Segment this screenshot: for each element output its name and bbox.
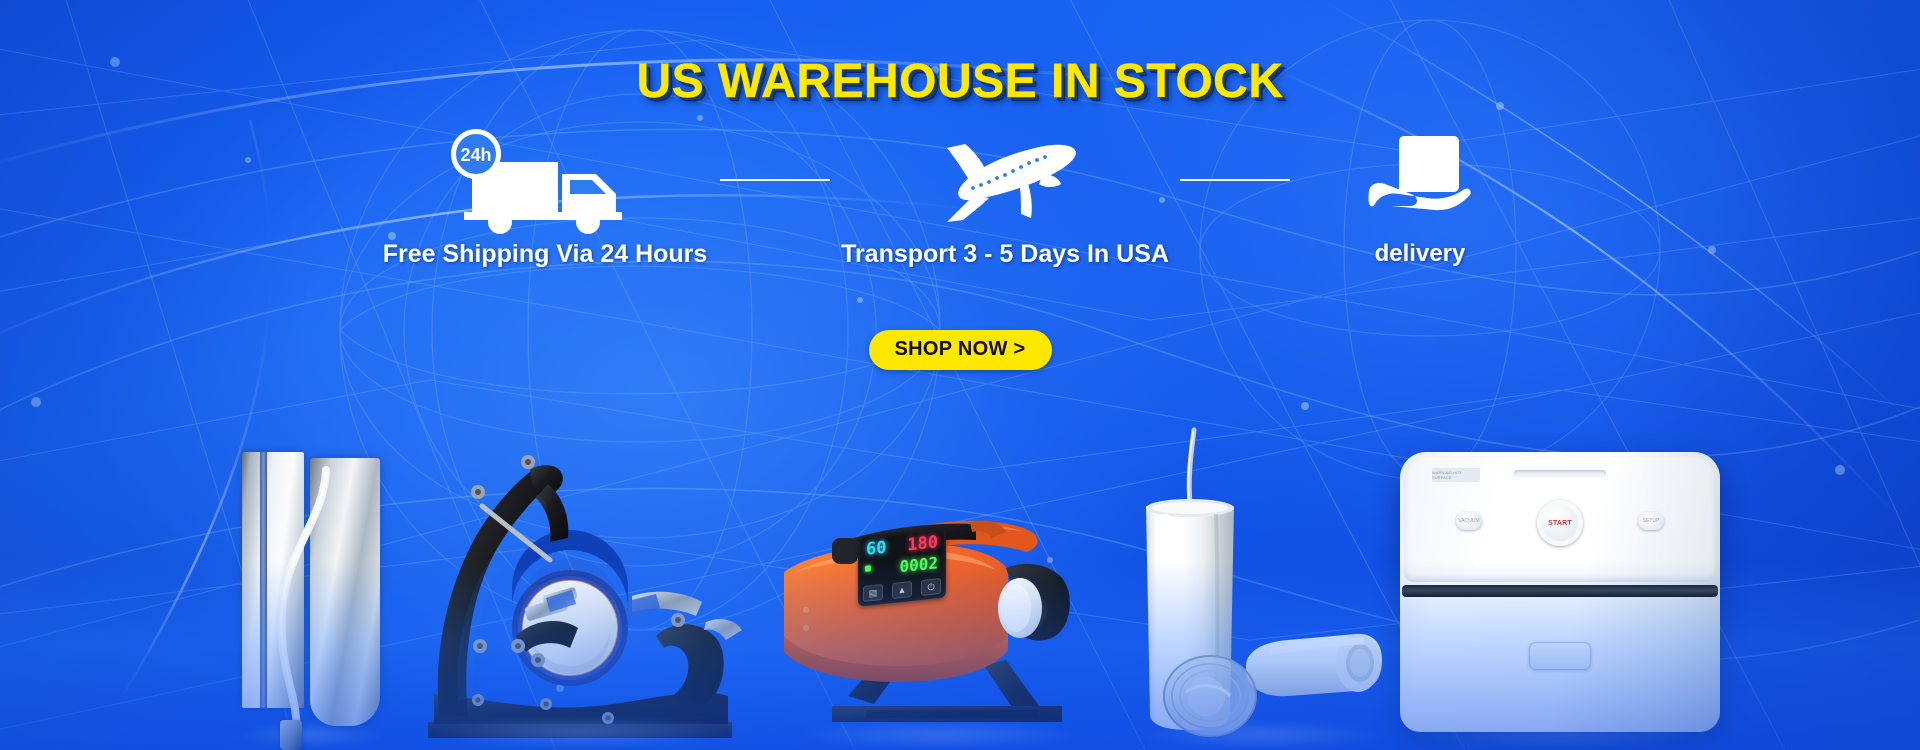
airplane-icon [917, 128, 1093, 232]
display-power-button[interactable]: ⏻ [921, 578, 941, 596]
display-menu-button[interactable]: ▤ [863, 584, 883, 602]
appliance-start-button[interactable]: START [1537, 500, 1583, 546]
connector-line-2 [1180, 128, 1290, 232]
page-title: US WAREHOUSE IN STOCK [0, 54, 1920, 109]
feature-label: Transport 3 - 5 Days In USA [841, 240, 1169, 269]
feature-transport-time: Transport 3 - 5 Days In USA [830, 128, 1180, 269]
appliance-setup-button[interactable]: SETUP [1638, 512, 1664, 530]
plate-cable [266, 480, 336, 742]
appliance-warning-label: WARNING HOT SURFACE [1432, 468, 1480, 482]
display-temperature: 60 [866, 540, 886, 559]
product-sublimation-oven[interactable]: WARNING HOT SURFACE VACUUM START SETUP [1400, 440, 1720, 750]
delivery-truck-24h-icon: 24h [440, 128, 650, 232]
appliance-seam-band [1402, 585, 1718, 597]
appliance-vent [1514, 470, 1606, 477]
display-target-temperature: 180 [907, 534, 938, 554]
product-mug-heat-press[interactable] [420, 450, 740, 750]
display-status-indicator [865, 565, 871, 572]
promo-banner: US WAREHOUSE IN STOCK [0, 0, 1920, 750]
feature-row: 24h Free Shipping Via 24 Hours [0, 128, 1920, 269]
feature-delivery: delivery [1290, 128, 1550, 268]
appliance-vacuum-button[interactable]: VACUUM [1456, 512, 1482, 530]
feature-label: Free Shipping Via 24 Hours [383, 240, 708, 269]
product-heating-element-plate[interactable] [236, 450, 386, 750]
display-up-button[interactable]: ▲ [892, 581, 912, 599]
product-orange-heat-press[interactable]: 60 180 0002 ▤ ▲ ⏻ [770, 460, 1110, 750]
appliance-latch[interactable] [1529, 642, 1591, 670]
hand-holding-package-icon [1365, 128, 1475, 232]
display-button-row: ▤ ▲ ⏻ [863, 578, 941, 602]
plate-connector [280, 720, 302, 750]
connector-line-1 [720, 128, 830, 232]
feature-free-shipping: 24h Free Shipping Via 24 Hours [370, 128, 720, 269]
product-sublimation-tumblers[interactable] [1130, 420, 1390, 750]
appliance-body: WARNING HOT SURFACE VACUUM START SETUP [1400, 452, 1720, 732]
heat-press-display[interactable]: 60 180 0002 ▤ ▲ ⏻ [858, 527, 946, 606]
feature-label: delivery [1375, 240, 1466, 268]
product-stage: 60 180 0002 ▤ ▲ ⏻ [0, 320, 1920, 750]
appliance-lid: WARNING HOT SURFACE VACUUM START SETUP [1404, 456, 1716, 582]
svg-text:24h: 24h [460, 145, 491, 165]
